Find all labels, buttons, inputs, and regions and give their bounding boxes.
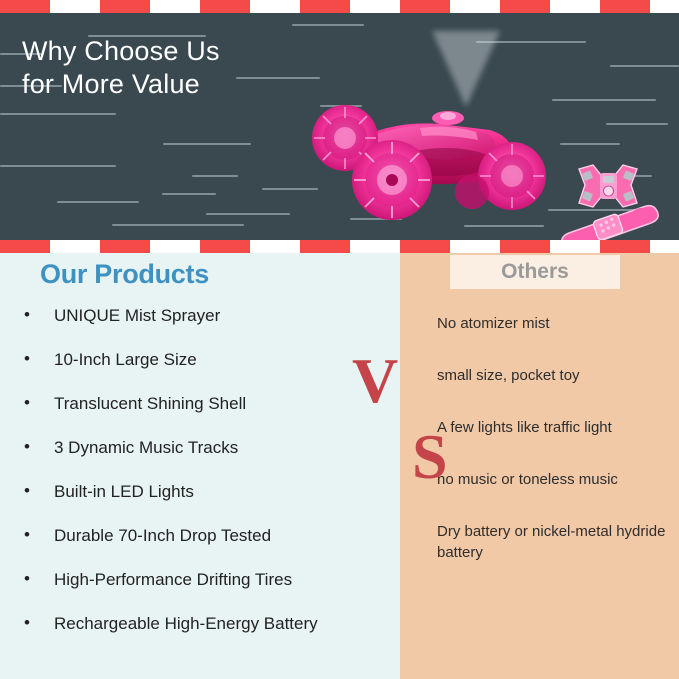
infographic-root: Why Choose Us for More Value Our Product… [0,0,679,679]
list-item: 10-Inch Large Size [22,349,392,371]
speed-line [464,225,544,227]
speed-line [0,113,116,115]
list-item: Durable 70-Inch Drop Tested [22,525,392,547]
pink-rc-stunt-car-icon [300,88,550,223]
pink-gesture-watch-icon [557,201,675,240]
list-item: 3 Dynamic Music Tracks [22,437,392,459]
speed-line [606,123,668,125]
speed-line [0,165,116,167]
list-item: No atomizer mist [437,313,675,334]
speed-line [610,65,679,67]
speed-line [112,224,244,226]
vs-letter-s: S [412,425,448,489]
hero-banner: Why Choose Us for More Value [0,13,679,240]
our-products-title: Our Products [40,259,209,290]
list-item: Built-in LED Lights [22,481,392,503]
list-item: Translucent Shining Shell [22,393,392,415]
our-products-panel: Our Products UNIQUE Mist Sprayer 10-Inch… [0,253,400,679]
list-item: no music or toneless music [437,469,675,490]
list-item: High-Performance Drifting Tires [22,569,392,591]
speed-line [236,77,320,79]
list-item: A few lights like traffic light [437,417,675,438]
others-list: No atomizer mist small size, pocket toy … [437,313,675,594]
list-item: small size, pocket toy [437,365,675,386]
hero-title: Why Choose Us for More Value [22,35,220,101]
checkered-strip-bottom [0,240,679,253]
speed-line [292,24,364,26]
speed-line [162,193,216,195]
speed-line [163,143,251,145]
list-item: Rechargeable High-Energy Battery [22,613,392,635]
our-products-list: UNIQUE Mist Sprayer 10-Inch Large Size T… [22,305,392,657]
vs-letter-v: V [352,349,398,413]
list-item: UNIQUE Mist Sprayer [22,305,392,327]
others-title: Others [450,255,620,289]
speed-line [552,99,656,101]
speed-line [57,201,139,203]
speed-line [560,143,620,145]
list-item: Dry battery or nickel-metal hydride batt… [437,521,675,563]
speed-line [192,175,238,177]
speed-line [206,213,290,215]
checkered-strip-top [0,0,679,13]
comparison-section: Our Products UNIQUE Mist Sprayer 10-Inch… [0,253,679,679]
